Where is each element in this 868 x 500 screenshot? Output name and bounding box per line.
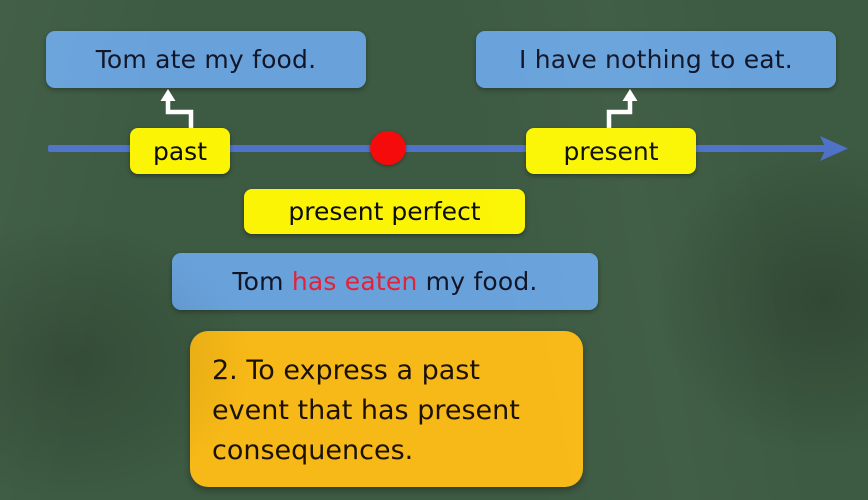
note-box-text: 2. To express a past event that has pres… <box>212 355 520 466</box>
timeline-label-past: past <box>130 128 230 174</box>
slide-canvas: Tom ate my food. I have nothing to eat. … <box>0 0 868 500</box>
timeline-label-present-text: present <box>563 137 658 166</box>
perfect-example-before: Tom <box>232 267 291 296</box>
speech-box-perfect-example-line: Tom has eaten my food. <box>232 267 537 296</box>
speech-box-past-example: Tom ate my food. <box>46 31 366 88</box>
perfect-example-highlight: has eaten <box>292 267 418 296</box>
speech-box-perfect-example: Tom has eaten my food. <box>172 253 598 310</box>
timeline-label-past-text: past <box>153 137 207 166</box>
speech-box-present-example-text: I have nothing to eat. <box>519 45 793 74</box>
timeline-label-present-perfect-text: present perfect <box>288 197 480 226</box>
timeline-label-present-perfect: present perfect <box>244 189 525 234</box>
timeline-label-present: present <box>526 128 696 174</box>
perfect-example-after: my food. <box>418 267 538 296</box>
speech-box-present-example: I have nothing to eat. <box>476 31 836 88</box>
speech-box-past-example-text: Tom ate my food. <box>96 45 317 74</box>
note-box: 2. To express a past event that has pres… <box>190 331 583 487</box>
red-dot-icon <box>370 131 406 165</box>
